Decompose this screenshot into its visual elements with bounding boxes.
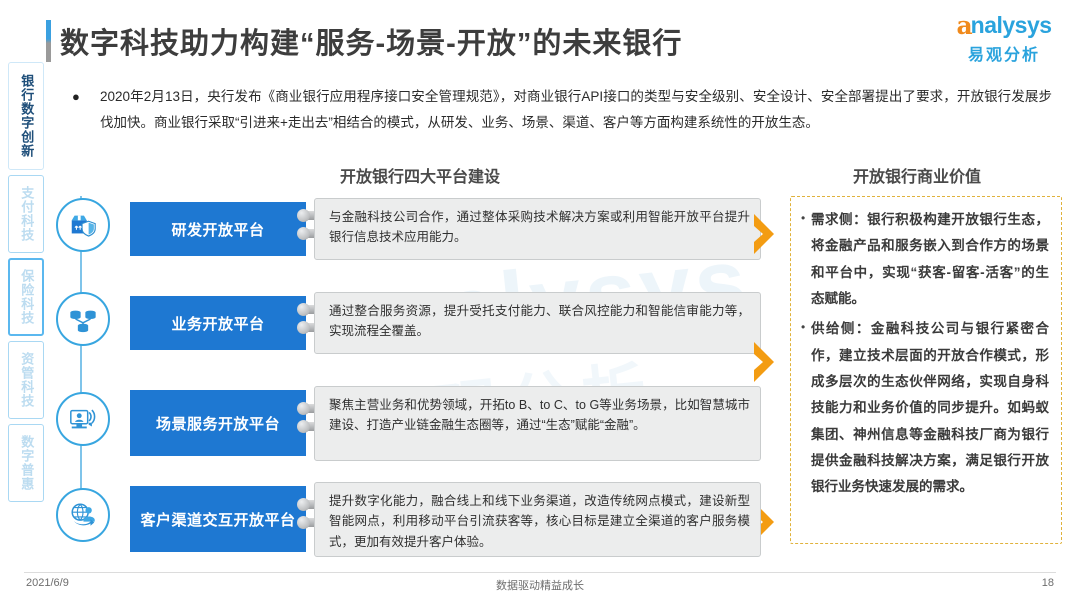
value-item-text: 供给侧：金融科技公司与银行紧密合作，建立技术层面的开放合作模式，形成多层次的生态…	[811, 316, 1049, 500]
value-item-text: 需求侧：银行积极构建开放银行生态，将金融产品和服务嵌入到合作方的场景和平台中，实…	[811, 207, 1049, 312]
platform-desc-channel: 提升数字化能力，融合线上和线下业务渠道，改造传统网点模式，建设新型智能网点，利用…	[314, 482, 761, 557]
title-accent-bar	[46, 20, 51, 62]
logo-chinese-name: 易观分析	[944, 41, 1064, 65]
sidebar-item-label: 支付科技	[19, 186, 34, 242]
bullet-icon: •	[801, 207, 811, 312]
sidebar-item-label: 银行数字创新	[19, 74, 34, 158]
intro-paragraph: ● 2020年2月13日，央行发布《商业银行应用程序接口安全管理规范》，对商业银…	[72, 84, 1052, 137]
right-column-heading: 开放银行商业价值	[853, 163, 981, 187]
platform-desc-rd: 与金融科技公司合作，通过整体采购技术解决方案或利用智能开放平台提升银行信息技术应…	[314, 198, 761, 260]
platform-name-label: 研发开放平台	[171, 219, 264, 240]
sidebar-item-payment-tech[interactable]: 支付科技	[8, 175, 44, 253]
bullet-icon: •	[801, 316, 811, 500]
platform-name-scenario[interactable]: 场景服务开放平台	[130, 390, 306, 456]
sidebar-item-insurance-tech[interactable]: 保险科技	[8, 258, 44, 336]
footer-divider	[24, 572, 1056, 573]
business-value-panel: • 需求侧：银行积极构建开放银行生态，将金融产品和服务嵌入到合作方的场景和平台中…	[790, 196, 1062, 544]
value-item-demand-side: • 需求侧：银行积极构建开放银行生态，将金融产品和服务嵌入到合作方的场景和平台中…	[801, 207, 1049, 312]
chevron-right-icon-2	[752, 340, 778, 384]
footer-tagline: 数据驱动精益成长	[496, 577, 584, 593]
chevron-right-icon-1	[752, 212, 778, 256]
platform-name-rd[interactable]: 研发开放平台	[130, 202, 306, 256]
platform-name-business[interactable]: 业务开放平台	[130, 296, 306, 350]
box-shield-icon	[56, 198, 110, 252]
platform-name-label: 客户渠道交互开放平台	[140, 509, 295, 530]
sidebar-tabs: 银行数字创新 支付科技 保险科技 资管科技 数字普惠	[8, 62, 46, 507]
logo-wordmark: nalysys	[971, 12, 1052, 39]
globe-user-icon	[56, 488, 110, 542]
sidebar-item-bank-digital-innovation[interactable]: 银行数字创新	[8, 62, 44, 170]
left-column-heading: 开放银行四大平台建设	[340, 163, 500, 187]
platform-desc-business: 通过整合服务资源，提升受托支付能力、联合风控能力和智能信审能力等，实现流程全覆盖…	[314, 292, 761, 354]
platform-name-label: 场景服务开放平台	[156, 413, 280, 434]
intro-text: 2020年2月13日，央行发布《商业银行应用程序接口安全管理规范》，对商业银行A…	[100, 84, 1052, 137]
sidebar-item-label: 资管科技	[19, 352, 34, 408]
platform-name-channel[interactable]: 客户渠道交互开放平台	[130, 486, 306, 552]
slide-root: analysys 易观分析 数字科技助力构建“服务-场景-开放”的未来银行 a …	[0, 0, 1080, 608]
footer-date: 2021/6/9	[26, 577, 69, 589]
analysys-logo: a nalysys 易观分析	[944, 10, 1064, 65]
sidebar-item-label: 数字普惠	[19, 435, 34, 491]
page-title: 数字科技助力构建“服务-场景-开放”的未来银行	[60, 20, 682, 62]
monitor-user-wifi-icon	[56, 392, 110, 446]
footer-page-number: 18	[1042, 577, 1054, 589]
sidebar-item-asset-mgmt-tech[interactable]: 资管科技	[8, 341, 44, 419]
sidebar-item-digital-inclusive[interactable]: 数字普惠	[8, 424, 44, 502]
platform-desc-scenario: 聚焦主营业务和优势领域，开拓to B、to C、to G等业务场景，比如智慧城市…	[314, 386, 761, 461]
value-item-supply-side: • 供给侧：金融科技公司与银行紧密合作，建立技术层面的开放合作模式，形成多层次的…	[801, 316, 1049, 500]
database-coins-icon	[56, 292, 110, 346]
platform-name-label: 业务开放平台	[171, 313, 264, 334]
intro-bullet-icon: ●	[72, 84, 100, 137]
sidebar-item-label: 保险科技	[19, 269, 34, 325]
